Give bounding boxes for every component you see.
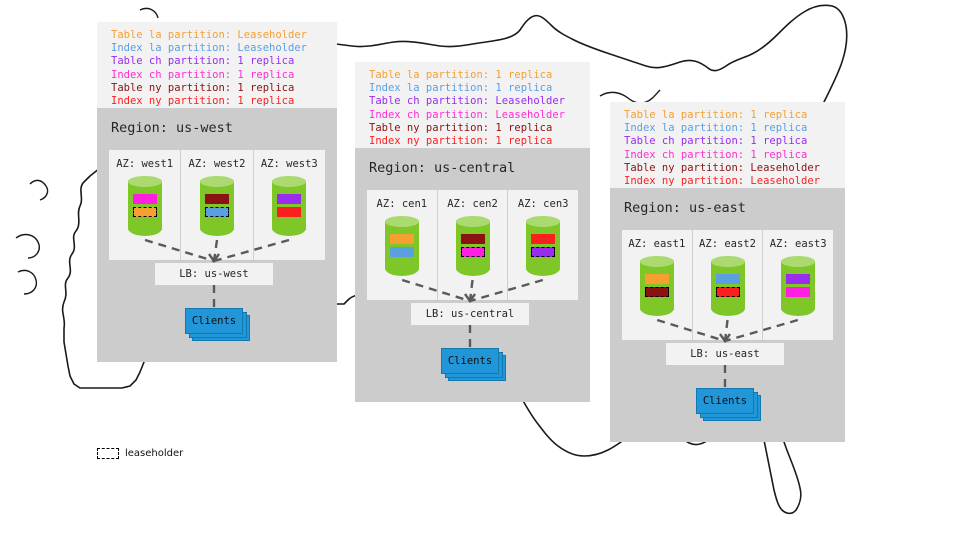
region-panel-us-central: Region: us-centralAZ: cen1AZ: cen2AZ: ce… bbox=[355, 148, 590, 402]
clients-label[interactable]: Clients bbox=[441, 348, 499, 374]
dashed-rect-icon bbox=[97, 448, 119, 459]
leaseholder-legend-label: leaseholder bbox=[125, 448, 183, 459]
legend-line: Table la partition: Leaseholder bbox=[111, 29, 327, 42]
leaseholder-legend: leaseholder bbox=[97, 448, 183, 459]
clients-stack-us-east[interactable]: Clients bbox=[696, 388, 763, 423]
clients-stack-us-central[interactable]: Clients bbox=[441, 348, 508, 383]
legend-line: Table ch partition: Leaseholder bbox=[369, 95, 580, 108]
legend-line: Index ny partition: 1 replica bbox=[369, 135, 580, 148]
legend-line: Index ch partition: 1 replica bbox=[624, 149, 835, 162]
legend-line: Table ch partition: 1 replica bbox=[624, 135, 835, 148]
region-panel-us-west: Region: us-westAZ: west1AZ: west2AZ: wes… bbox=[97, 108, 337, 362]
legend-line: Index ch partition: Leaseholder bbox=[369, 109, 580, 122]
legend-line: Table ch partition: 1 replica bbox=[111, 55, 327, 68]
clients-label[interactable]: Clients bbox=[696, 388, 754, 414]
partition-legend-us-central: Table la partition: 1 replicaIndex la pa… bbox=[355, 62, 590, 148]
legend-line: Index ch partition: 1 replica bbox=[111, 69, 327, 82]
legend-line: Table ny partition: Leaseholder bbox=[624, 162, 835, 175]
load-balancer-us-west[interactable]: LB: us-west bbox=[155, 263, 273, 285]
clients-label[interactable]: Clients bbox=[185, 308, 243, 334]
load-balancer-us-central[interactable]: LB: us-central bbox=[411, 303, 529, 325]
legend-line: Index ny partition: 1 replica bbox=[111, 95, 327, 108]
legend-line: Index la partition: Leaseholder bbox=[111, 42, 327, 55]
partition-legend-us-east: Table la partition: 1 replicaIndex la pa… bbox=[610, 102, 845, 188]
legend-line: Table la partition: 1 replica bbox=[369, 69, 580, 82]
legend-line: Table la partition: 1 replica bbox=[624, 109, 835, 122]
region-panel-us-east: Region: us-eastAZ: east1AZ: east2AZ: eas… bbox=[610, 188, 845, 442]
diagram-canvas: Table la partition: LeaseholderIndex la … bbox=[0, 0, 960, 540]
legend-line: Table ny partition: 1 replica bbox=[111, 82, 327, 95]
partition-legend-us-west: Table la partition: LeaseholderIndex la … bbox=[97, 22, 337, 108]
legend-line: Index la partition: 1 replica bbox=[624, 122, 835, 135]
legend-line: Index ny partition: Leaseholder bbox=[624, 175, 835, 188]
legend-line: Table ny partition: 1 replica bbox=[369, 122, 580, 135]
legend-line: Index la partition: 1 replica bbox=[369, 82, 580, 95]
load-balancer-us-east[interactable]: LB: us-east bbox=[666, 343, 784, 365]
clients-stack-us-west[interactable]: Clients bbox=[185, 308, 252, 343]
